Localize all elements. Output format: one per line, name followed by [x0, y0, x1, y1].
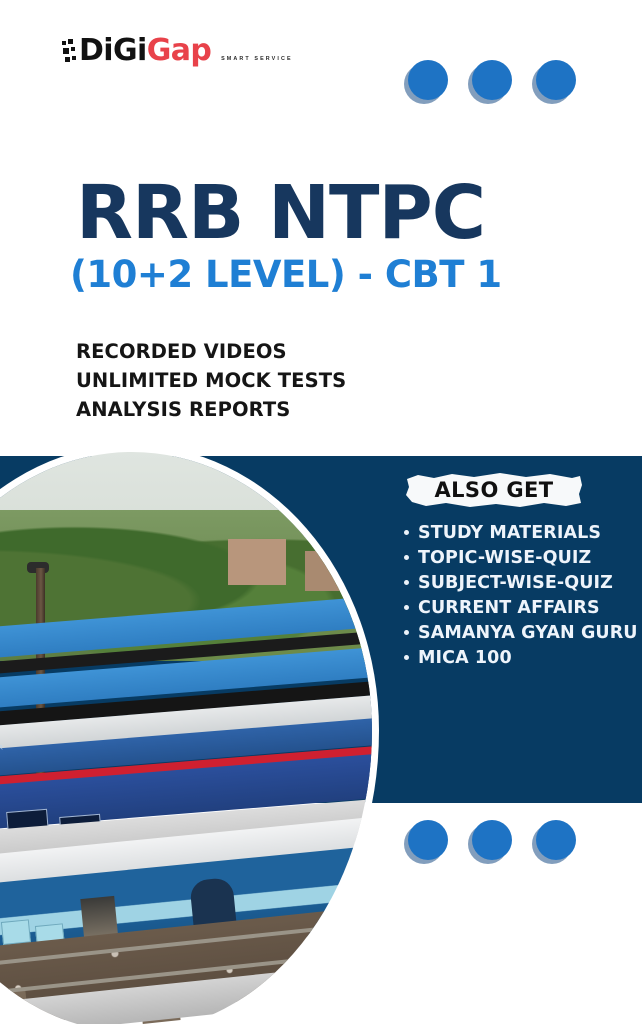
- list-item: SAMANYA GYAN GURU: [404, 624, 642, 644]
- logo-wordmark: DiGiGap SMART SERVICE: [79, 36, 293, 66]
- circle-dot-icon: [472, 60, 512, 100]
- circle-dot-icon: [472, 820, 512, 860]
- building-shape: [228, 539, 286, 585]
- brand-logo: DiGiGap SMART SERVICE: [62, 36, 293, 66]
- bullet-icon: [404, 605, 409, 610]
- list-item: SUBJECT-WISE-QUIZ: [404, 574, 642, 594]
- circle-dot-icon: [408, 820, 448, 860]
- list-item-label: SAMANYA GYAN GURU: [418, 624, 638, 644]
- also-get-banner: ALSO GET: [404, 470, 584, 510]
- pixel-blocks-icon: [62, 39, 78, 65]
- train-photo-scene: 85PR 09 NR 10859 शयन ER CLASS: [0, 452, 372, 1024]
- page-title: RRB NTPC: [76, 178, 596, 248]
- bottom-dot-decoration: [408, 820, 576, 860]
- list-item: STUDY MATERIALS: [404, 524, 642, 544]
- circle-dot-icon: [536, 820, 576, 860]
- building-shape: [305, 551, 353, 592]
- train-photo: 85PR 09 NR 10859 शयन ER CLASS: [0, 452, 372, 1024]
- page-subtitle: (10+2 LEVEL) - CBT 1: [70, 256, 596, 293]
- list-item-label: CURRENT AFFAIRS: [418, 599, 600, 619]
- bullet-icon: [404, 530, 409, 535]
- logo-tagline: SMART SERVICE: [221, 56, 293, 62]
- coach-window: [1, 920, 31, 945]
- list-item: TOPIC-WISE-QUIZ: [404, 549, 642, 569]
- bullet-icon: [404, 580, 409, 585]
- list-item: MICA 100: [404, 649, 642, 669]
- list-item-label: MICA 100: [418, 649, 512, 669]
- list-item-label: SUBJECT-WISE-QUIZ: [418, 574, 613, 594]
- feature-list: RECORDED VIDEOS UNLIMITED MOCK TESTS ANA…: [76, 338, 346, 425]
- bullet-icon: [404, 555, 409, 560]
- headline-block: RRB NTPC (10+2 LEVEL) - CBT 1: [76, 178, 596, 293]
- poster-canvas: DiGiGap SMART SERVICE RRB NTPC (10+2 LEV…: [0, 0, 642, 1024]
- logo-name-accent: Gap: [147, 33, 212, 68]
- also-get-label: ALSO GET: [404, 470, 584, 510]
- top-dot-decoration: [408, 60, 576, 100]
- logo-name-primary: DiGi: [79, 33, 147, 68]
- circle-dot-icon: [536, 60, 576, 100]
- bullet-icon: [404, 630, 409, 635]
- feature-item: UNLIMITED MOCK TESTS: [76, 367, 346, 396]
- feature-item: ANALYSIS REPORTS: [76, 396, 346, 425]
- list-item-label: TOPIC-WISE-QUIZ: [418, 549, 591, 569]
- list-item-label: STUDY MATERIALS: [418, 524, 601, 544]
- list-item: CURRENT AFFAIRS: [404, 599, 642, 619]
- feature-item: RECORDED VIDEOS: [76, 338, 346, 367]
- circle-dot-icon: [408, 60, 448, 100]
- bullet-icon: [404, 655, 409, 660]
- also-get-list: STUDY MATERIALS TOPIC-WISE-QUIZ SUBJECT-…: [404, 524, 642, 675]
